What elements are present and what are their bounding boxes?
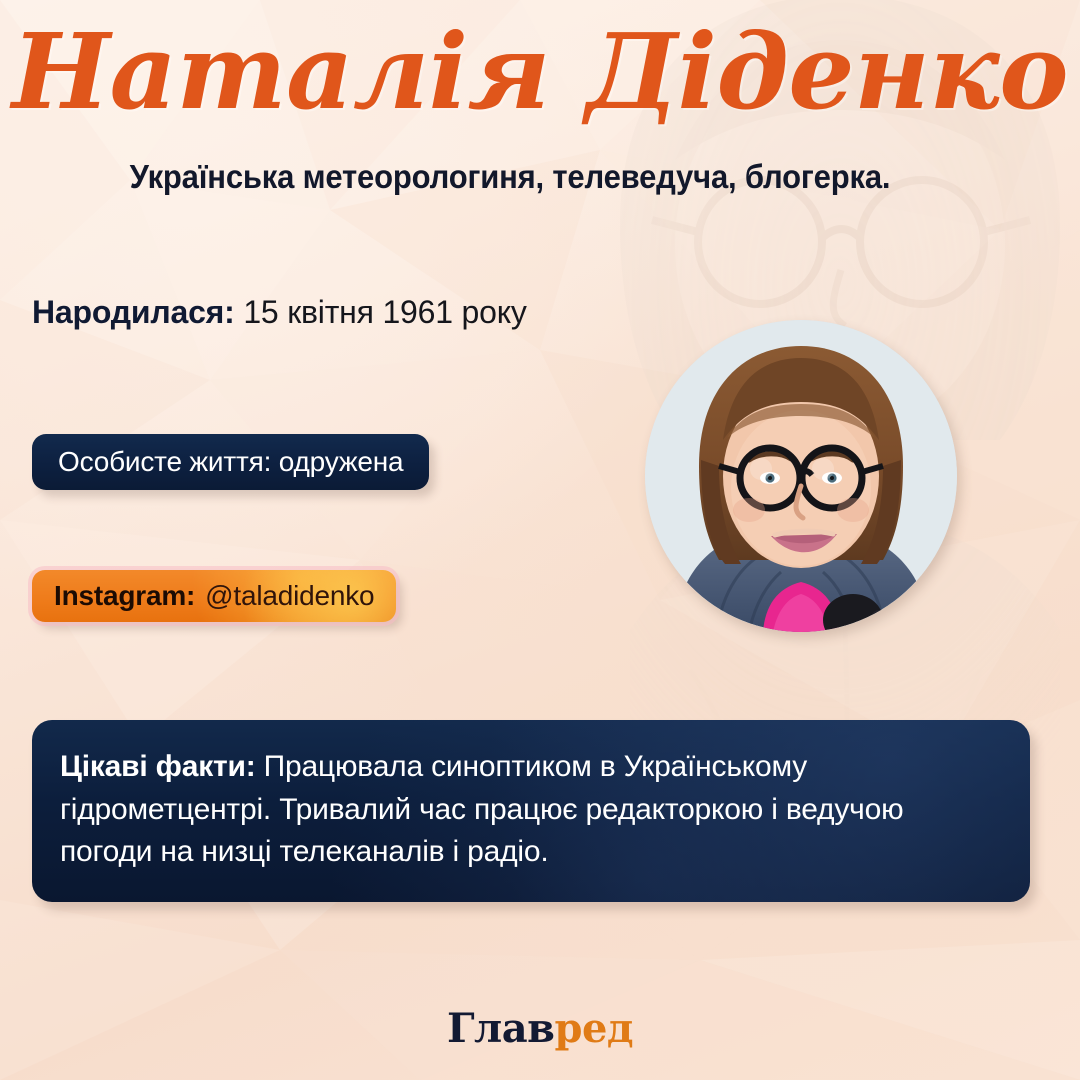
brand-logo[interactable]: Главред [0, 1005, 1080, 1052]
avatar [645, 320, 957, 632]
page-title: Наталія Діденко [0, 12, 1080, 132]
instagram-label: Instagram: [54, 580, 195, 612]
personal-life-badge: Особисте життя: одружена [32, 434, 429, 490]
interesting-facts-box: Цікаві факти: Працювала синоптиком в Укр… [32, 720, 1030, 902]
birth-date-label: Народилася: [32, 294, 235, 330]
personal-life-text: Особисте життя: одружена [58, 446, 403, 478]
instagram-handle[interactable]: @taladidenko [205, 580, 374, 612]
birth-date-line: Народилася: 15 квітня 1961 року [32, 294, 527, 331]
page-subtitle: Українська метеорологиня, телеведуча, бл… [31, 158, 990, 196]
infographic-card: Наталія Діденко Українська метеорологиня… [0, 0, 1080, 1080]
interesting-facts-label: Цікаві факти: [60, 750, 256, 783]
instagram-badge[interactable]: Instagram: @taladidenko [32, 570, 396, 622]
birth-date-value: 15 квітня 1961 року [235, 294, 527, 330]
brand-logo-part-dark: Глав [447, 1005, 555, 1052]
brand-logo-part-orange: ред [554, 1005, 633, 1052]
